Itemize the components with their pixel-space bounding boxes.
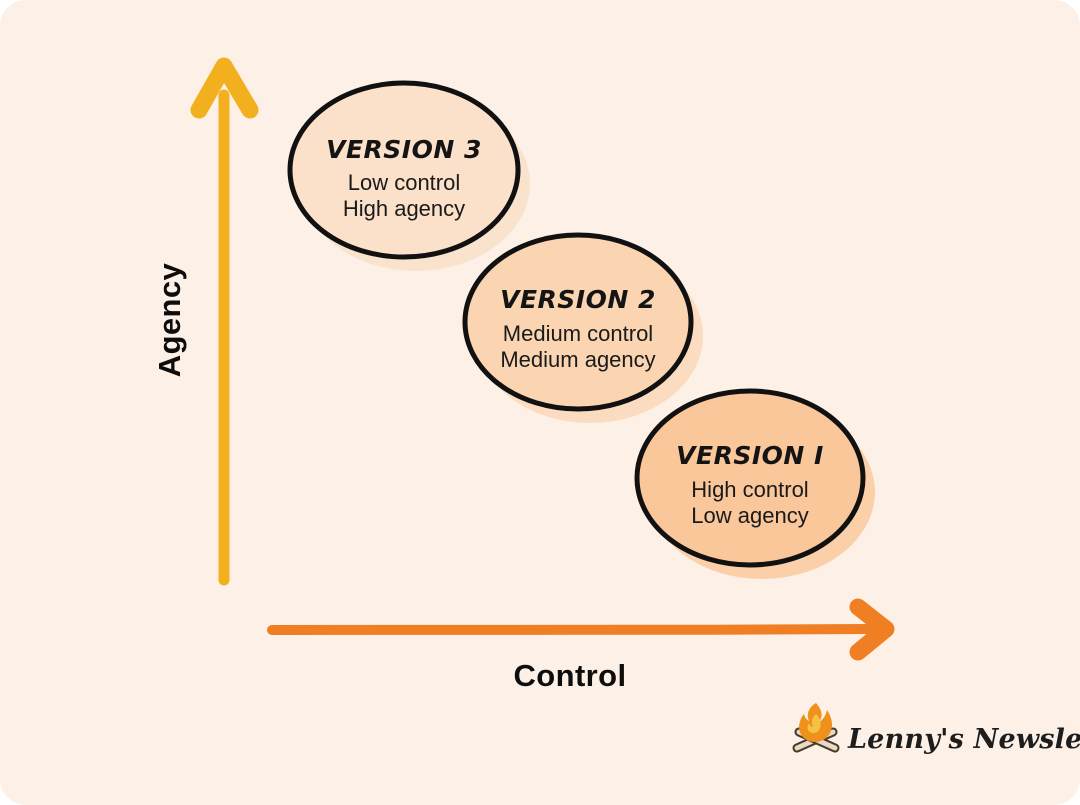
bubble-line-2: High agency bbox=[343, 196, 465, 221]
bubble-line-1: High control bbox=[691, 477, 808, 502]
brand-name: Lenny's Newsletter bbox=[847, 724, 1080, 755]
bubble-version-2[interactable]: VERSION 2 Medium control Medium agency bbox=[465, 235, 703, 423]
campfire-icon bbox=[797, 703, 835, 748]
bubble-line-2: Medium agency bbox=[500, 347, 655, 372]
bubble-version-1[interactable]: VERSION I High control Low agency bbox=[637, 391, 875, 579]
bubble-line-1: Low control bbox=[348, 170, 461, 195]
bubble-line-2: Low agency bbox=[691, 503, 808, 528]
y-axis-group: Agency bbox=[152, 66, 250, 580]
brand-logo[interactable]: Lenny's Newsletter bbox=[797, 703, 1080, 755]
x-axis-label: Control bbox=[514, 658, 627, 693]
x-axis-group: Control bbox=[272, 607, 886, 693]
bubble-title: VERSION I bbox=[676, 441, 824, 470]
diagram-canvas: Agency Control VERSION 3 Low control Hig… bbox=[0, 0, 1080, 805]
x-axis-line bbox=[272, 629, 870, 630]
bubble-line-1: Medium control bbox=[503, 321, 653, 346]
y-axis-label: Agency bbox=[152, 262, 187, 377]
bubble-version-3[interactable]: VERSION 3 Low control High agency bbox=[290, 83, 530, 271]
quadrant-diagram: Agency Control VERSION 3 Low control Hig… bbox=[0, 0, 1080, 805]
y-axis-line bbox=[224, 95, 225, 580]
bubble-title: VERSION 2 bbox=[500, 285, 656, 314]
bubble-title: VERSION 3 bbox=[326, 135, 482, 164]
